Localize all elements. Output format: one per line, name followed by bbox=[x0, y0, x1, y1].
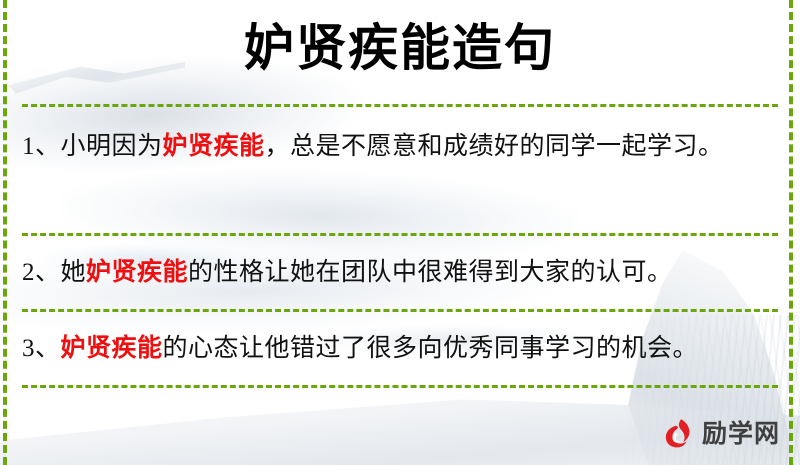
sentence-item-3: 3、妒贤疾能的心态让他错过了很多向优秀同事学习的机会。 bbox=[22, 328, 774, 369]
sentence-item-1: 1、小明因为妒贤疾能，总是不愿意和成绩好的同学一起学习。 bbox=[22, 126, 774, 167]
sentence-1-index: 1、 bbox=[22, 133, 61, 160]
sentence-3-index: 3、 bbox=[22, 335, 61, 362]
sentence-3-idiom: 妒贤疾能 bbox=[61, 335, 163, 362]
divider-2 bbox=[22, 233, 778, 236]
page-title: 妒贤疾能造句 bbox=[0, 18, 800, 77]
divider-1 bbox=[22, 104, 778, 107]
sentence-3-text-after: 的心态让他错过了很多向优秀同事学习的机会。 bbox=[163, 335, 699, 362]
divider-3 bbox=[22, 309, 778, 312]
divider-4 bbox=[22, 385, 778, 388]
sentence-2-text-before: 她 bbox=[61, 259, 87, 286]
watermark-brand-text: 励学网 bbox=[702, 421, 780, 446]
watermark-logo: 励学网 bbox=[662, 417, 780, 450]
slide-canvas: 妒贤疾能造句 1、小明因为妒贤疾能，总是不愿意和成绩好的同学一起学习。 2、她妒… bbox=[0, 0, 800, 465]
sentence-1-text-after: ，总是不愿意和成绩好的同学一起学习。 bbox=[265, 133, 724, 160]
sentence-1-text-before: 小明因为 bbox=[61, 133, 163, 160]
sentence-item-2: 2、她妒贤疾能的性格让她在团队中很难得到大家的认可。 bbox=[22, 252, 774, 293]
sentence-2-idiom: 妒贤疾能 bbox=[86, 259, 188, 286]
sentence-2-text-after: 的性格让她在团队中很难得到大家的认可。 bbox=[188, 259, 673, 286]
flame-swirl-icon bbox=[662, 417, 695, 450]
sentence-1-idiom: 妒贤疾能 bbox=[163, 133, 265, 160]
sentence-2-index: 2、 bbox=[22, 259, 61, 286]
